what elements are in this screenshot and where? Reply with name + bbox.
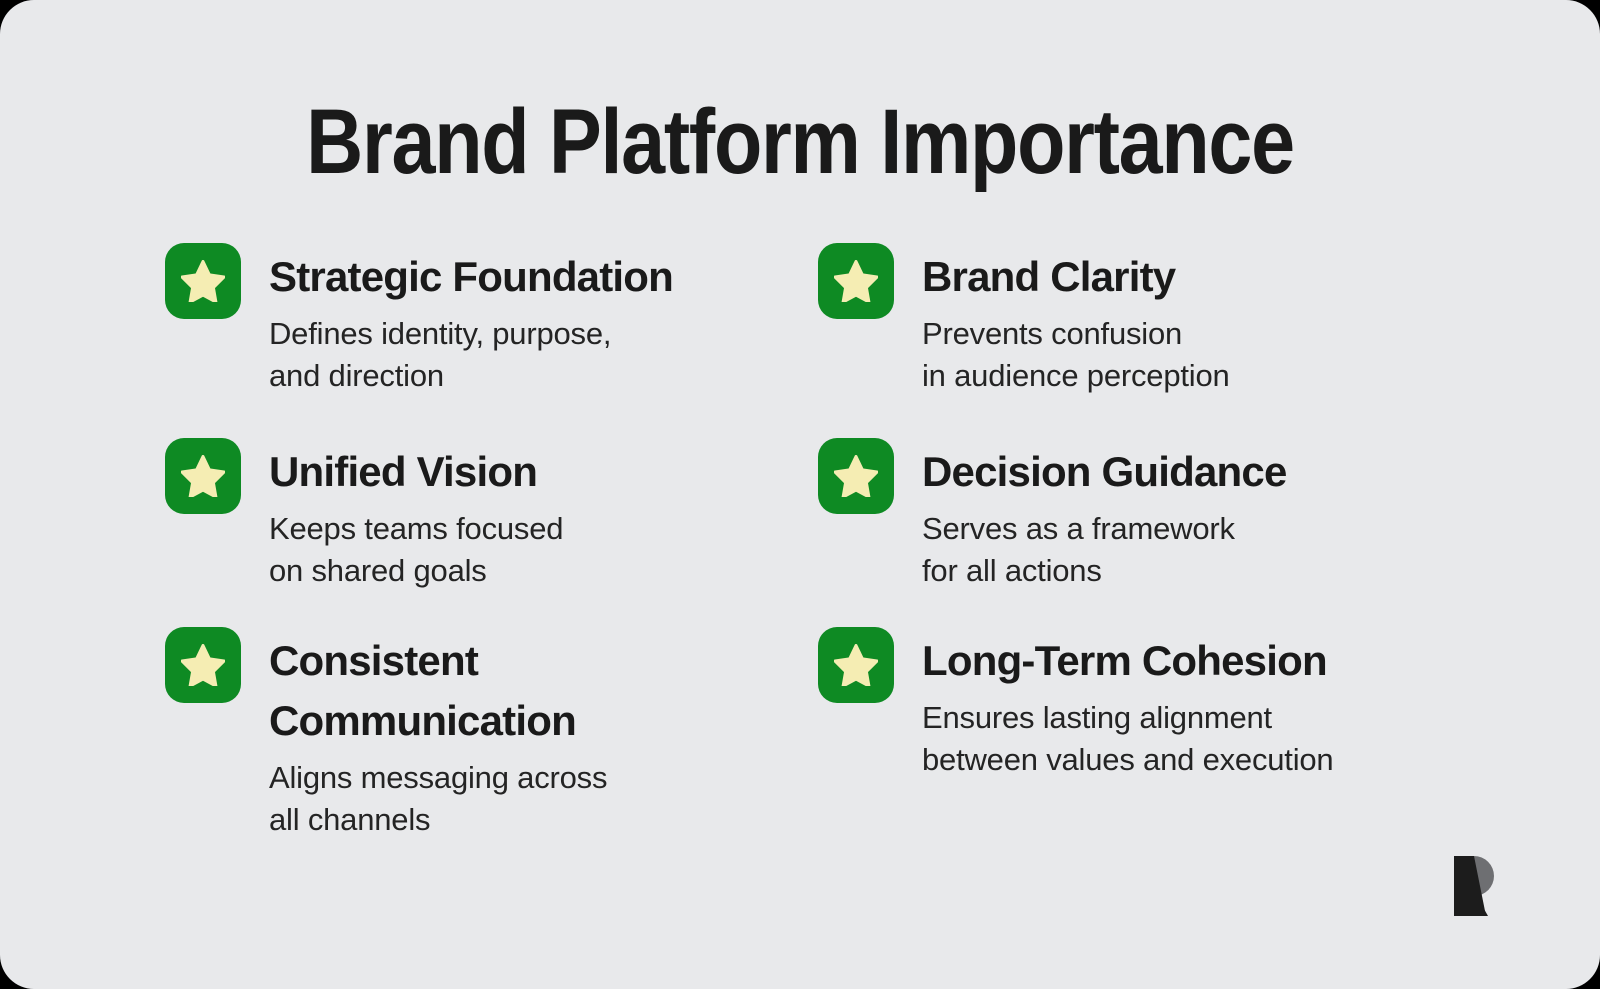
feature-item: Strategic Foundation Defines identity, p… [165, 243, 785, 397]
feature-title: Long-Term Cohesion [922, 627, 1438, 691]
feature-column-left: Strategic Foundation Defines identity, p… [165, 243, 785, 841]
feature-text: Decision Guidance Serves as a framework … [922, 438, 1438, 592]
feature-title: Strategic Foundation [269, 243, 785, 307]
feature-description: Ensures lasting alignment between values… [922, 697, 1438, 781]
feature-title: Decision Guidance [922, 438, 1438, 502]
feature-title: Consistent Communication [269, 627, 709, 751]
page-title: Brand Platform Importance [112, 96, 1488, 188]
feature-column-right: Brand Clarity Prevents confusion in audi… [818, 243, 1438, 781]
feature-item: Decision Guidance Serves as a framework … [818, 438, 1438, 592]
feature-text: Consistent Communication Aligns messagin… [269, 627, 785, 841]
feature-text: Long-Term Cohesion Ensures lasting align… [922, 627, 1438, 781]
feature-title: Unified Vision [269, 438, 785, 502]
feature-item: Long-Term Cohesion Ensures lasting align… [818, 627, 1438, 781]
star-icon [834, 260, 878, 302]
feature-description: Aligns messaging across all channels [269, 757, 785, 841]
star-badge [165, 243, 241, 319]
feature-text: Strategic Foundation Defines identity, p… [269, 243, 785, 397]
star-icon [181, 644, 225, 686]
star-badge [818, 438, 894, 514]
feature-description: Serves as a framework for all actions [922, 508, 1438, 592]
feature-item: Unified Vision Keeps teams focused on sh… [165, 438, 785, 592]
star-badge [818, 243, 894, 319]
star-icon [181, 260, 225, 302]
feature-item: Brand Clarity Prevents confusion in audi… [818, 243, 1438, 397]
feature-text: Unified Vision Keeps teams focused on sh… [269, 438, 785, 592]
brand-logo-mark [1444, 840, 1516, 916]
feature-text: Brand Clarity Prevents confusion in audi… [922, 243, 1438, 397]
star-badge [165, 627, 241, 703]
feature-item: Consistent Communication Aligns messagin… [165, 627, 785, 841]
feature-title: Brand Clarity [922, 243, 1438, 307]
feature-description: Keeps teams focused on shared goals [269, 508, 785, 592]
star-icon [181, 455, 225, 497]
feature-description: Defines identity, purpose, and direction [269, 313, 785, 397]
infographic-canvas: Brand Platform Importance Strategic Foun… [0, 0, 1600, 989]
star-icon [834, 455, 878, 497]
feature-description: Prevents confusion in audience perceptio… [922, 313, 1438, 397]
star-badge [165, 438, 241, 514]
star-badge [818, 627, 894, 703]
star-icon [834, 644, 878, 686]
